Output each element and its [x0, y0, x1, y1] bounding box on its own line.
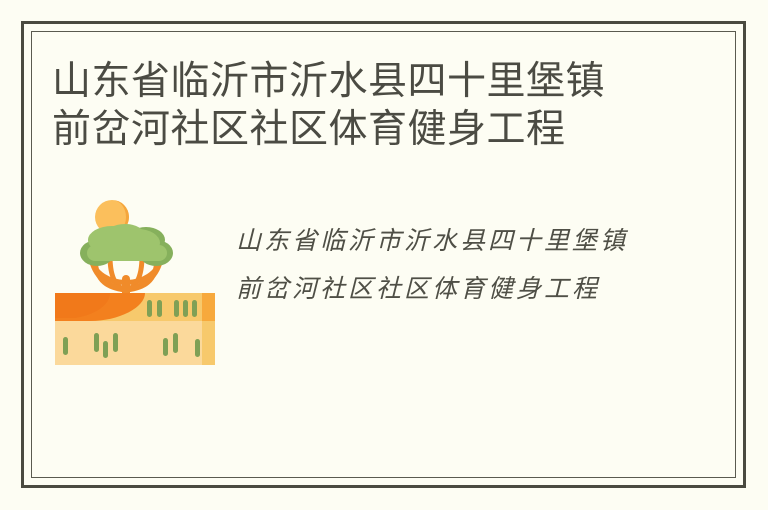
ground-terrain — [55, 293, 215, 365]
tree-canopy — [80, 224, 173, 266]
handwritten-caption: 山东省临沂市沂水县四十里堡镇 前岔河社区社区体育健身工程 — [236, 218, 656, 314]
savanna-acacia-tree-icon — [50, 195, 220, 370]
poster-card: 山东省临沂市沂水县四十里堡镇 前岔河社区社区体育健身工程 — [0, 0, 768, 510]
page-title: 山东省临沂市沂水县四十里堡镇 前岔河社区社区体育健身工程 — [52, 58, 692, 154]
